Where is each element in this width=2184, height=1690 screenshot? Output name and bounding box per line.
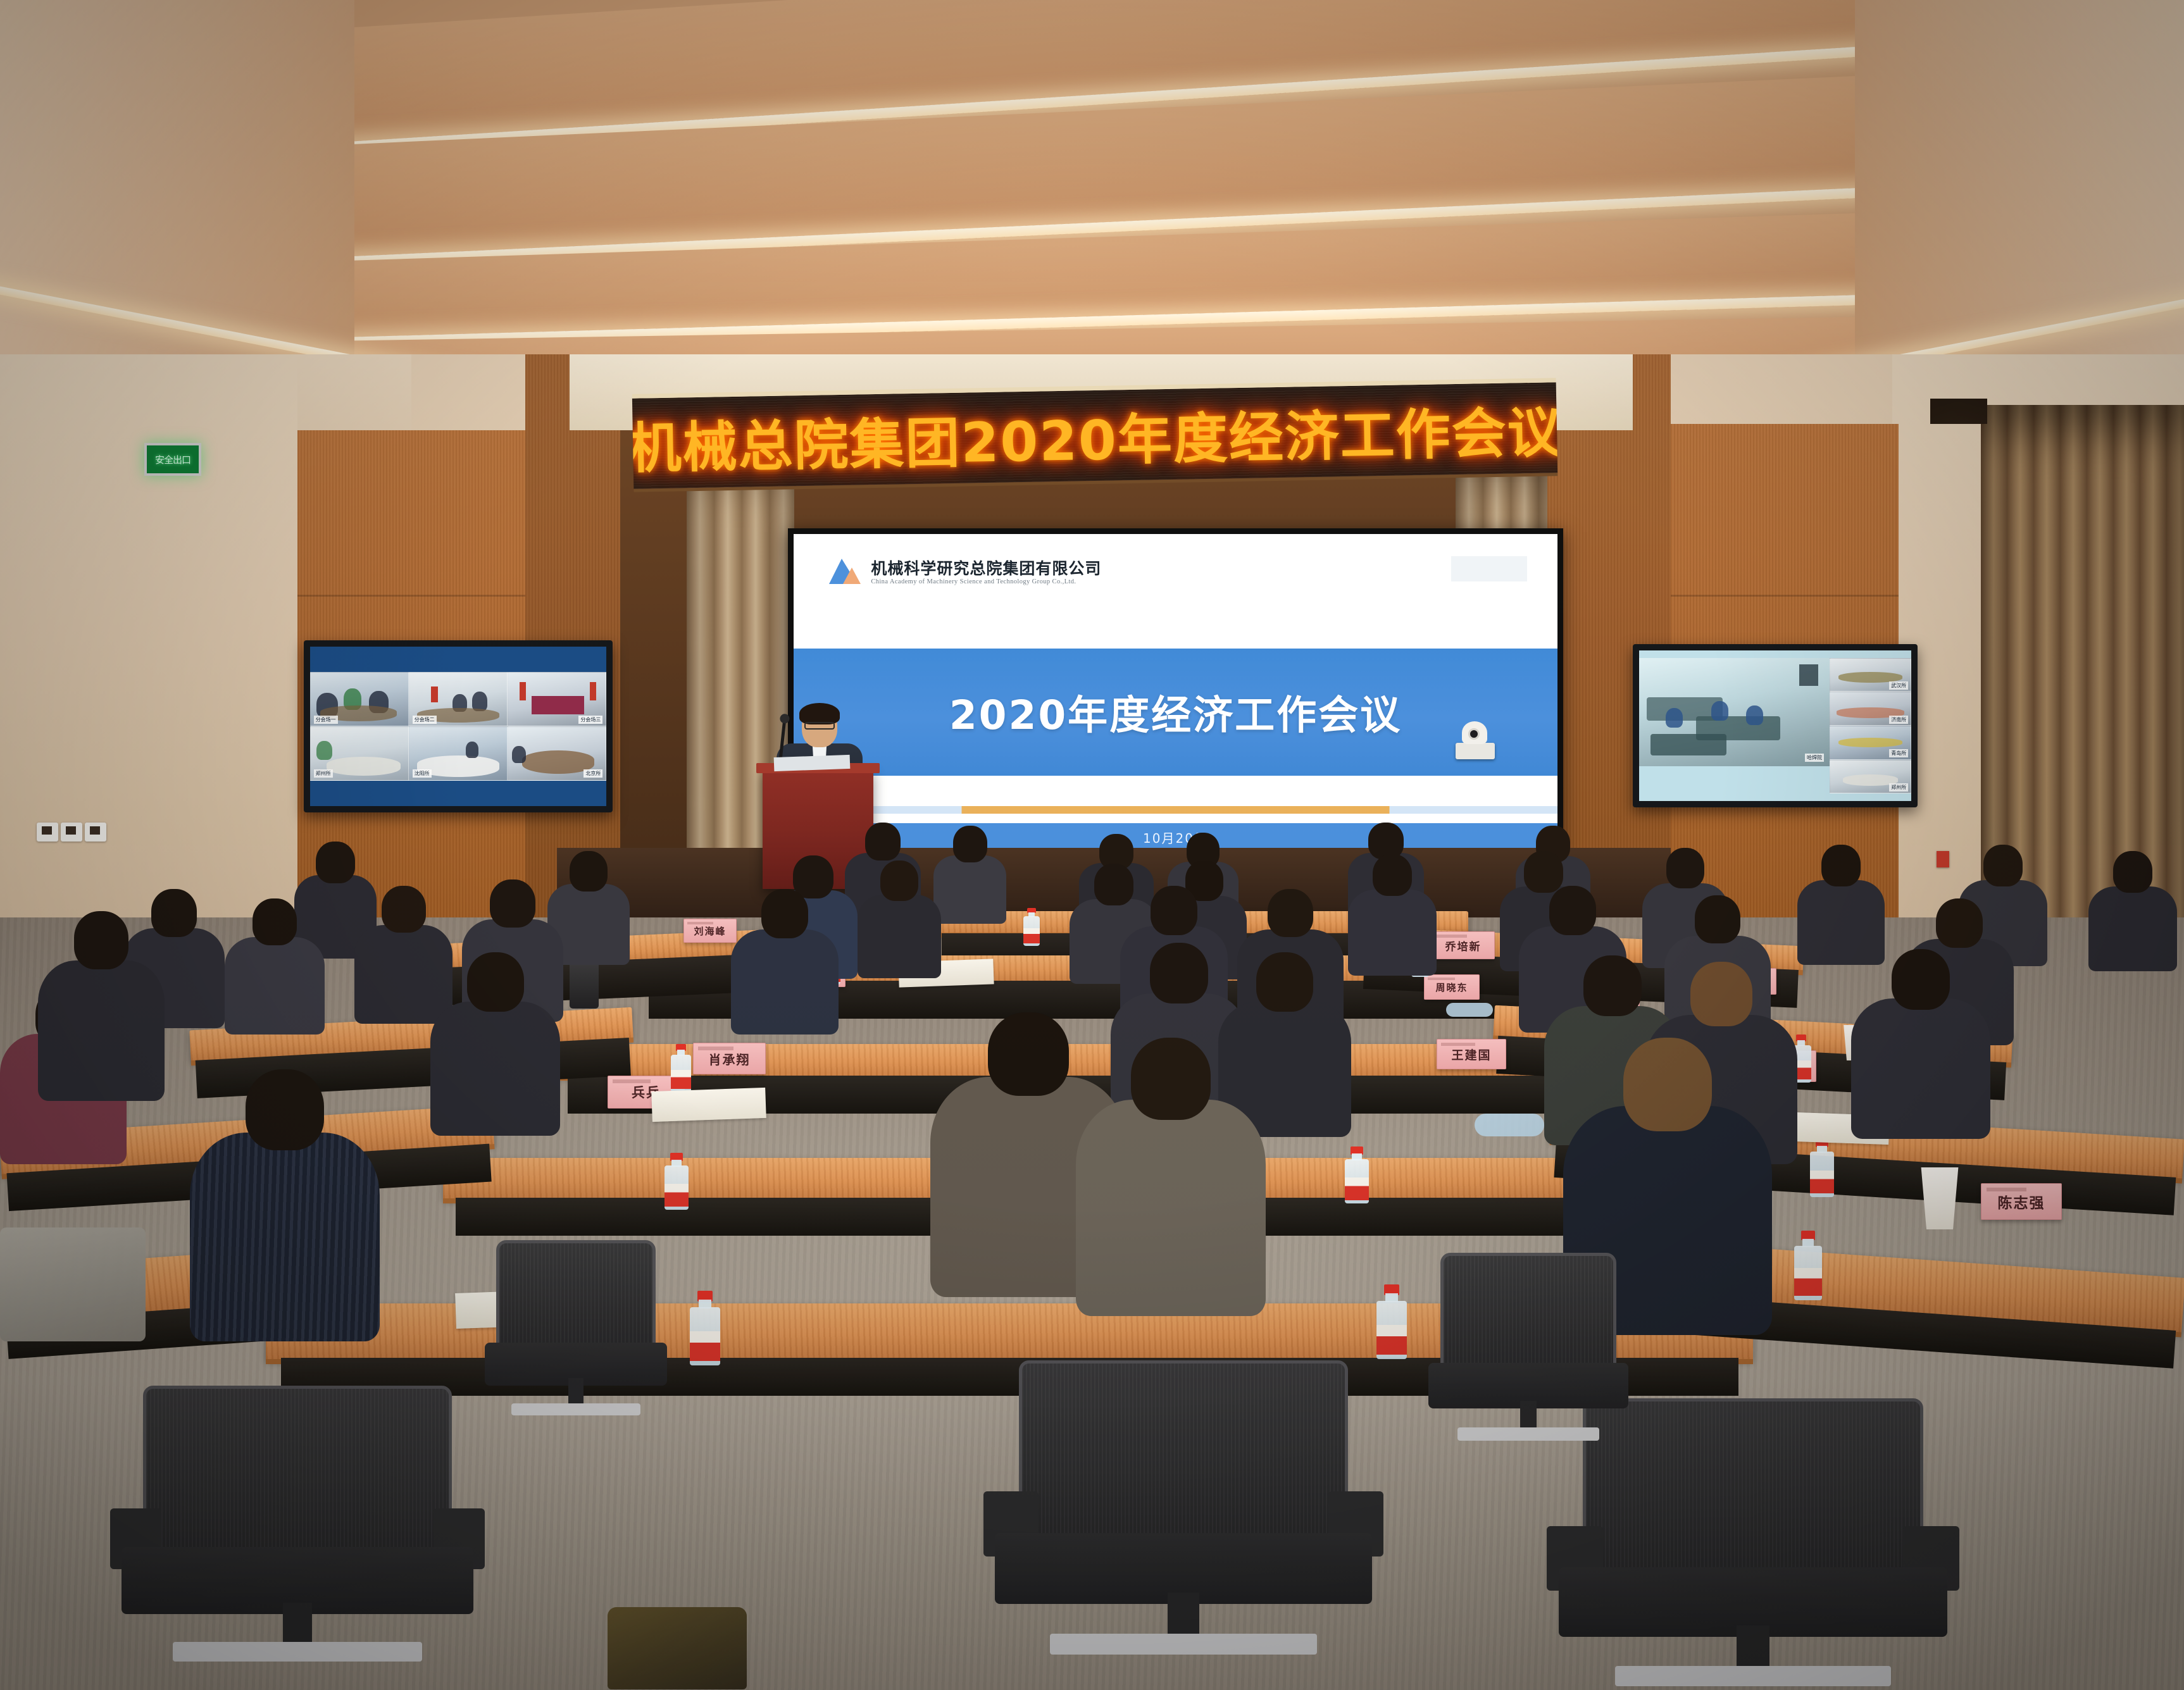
speech-papers bbox=[774, 755, 851, 771]
attendee bbox=[38, 911, 165, 1101]
face-mask bbox=[1475, 1114, 1544, 1136]
video-cell-label: 青岛所 bbox=[1889, 749, 1908, 757]
led-banner: 机械总院集团2020年度经济工作会议 bbox=[632, 378, 1557, 492]
left-video-monitor: 分会场一 分会场二 分会场三 郑州 bbox=[304, 640, 613, 812]
video-cell: 济南所 bbox=[1830, 692, 1911, 726]
name-placard: 肖承翔 bbox=[693, 1043, 766, 1074]
video-side-cells: 武汉所 济南所 青岛所 郑州所 bbox=[1830, 658, 1911, 793]
attendee bbox=[1851, 949, 1990, 1139]
exit-sign-text: 安全出口 bbox=[155, 453, 190, 466]
video-cell: 分会场二 bbox=[409, 672, 508, 726]
projection-screen-frame: 机械科学研究总院集团有限公司 China Academy of Machiner… bbox=[788, 528, 1563, 857]
video-cell: 北京所 bbox=[508, 726, 606, 781]
water-bottle bbox=[1376, 1284, 1407, 1359]
conference-hall-photo: 机械总院集团2020年度经济工作会议 安全出口 机械科学研究总院集团有限公司 C… bbox=[0, 0, 2184, 1690]
video-main-cell: 哈焊院 bbox=[1639, 658, 1830, 766]
company-logo-icon bbox=[828, 556, 864, 585]
projection-screen: 机械科学研究总院集团有限公司 China Academy of Machiner… bbox=[794, 534, 1557, 852]
left-monitor-screen: 分会场一 分会场二 分会场三 郑州 bbox=[310, 647, 606, 806]
name-placard: 乔培新 bbox=[1432, 931, 1495, 959]
attendee bbox=[858, 861, 941, 978]
attendee bbox=[933, 826, 1006, 924]
video-cell: 郑州所 bbox=[1830, 760, 1911, 794]
video-cell-label: 武汉所 bbox=[1889, 681, 1908, 690]
slide-corner-graphic bbox=[1451, 556, 1527, 581]
attendee bbox=[1797, 845, 1885, 965]
video-main-cell-label: 哈焊院 bbox=[1805, 754, 1824, 762]
video-cell: 沈阳所 bbox=[409, 726, 508, 781]
travel-tumbler bbox=[570, 962, 599, 1009]
chair[interactable] bbox=[481, 1240, 671, 1417]
slide-logo-cn: 机械科学研究总院集团有限公司 bbox=[871, 561, 1101, 576]
attendee bbox=[190, 1069, 380, 1341]
water-bottle bbox=[1023, 908, 1040, 946]
name-placard: 周晓东 bbox=[1424, 974, 1480, 1000]
chair[interactable] bbox=[987, 1360, 1380, 1658]
chair[interactable] bbox=[1424, 1253, 1633, 1443]
video-cell-label: 北京所 bbox=[583, 769, 602, 778]
placard-name: 乔培新 bbox=[1445, 938, 1482, 954]
slide-accent-stripe bbox=[794, 806, 1557, 814]
video-cell: 分会场三 bbox=[508, 672, 606, 726]
water-bottle bbox=[1345, 1146, 1369, 1203]
placard-name: 刘海峰 bbox=[694, 924, 726, 938]
video-cell-label: 沈阳所 bbox=[413, 769, 432, 778]
water-bottle bbox=[690, 1291, 720, 1365]
slide-title: 2020年度经济工作会议 bbox=[794, 683, 1557, 741]
attendee bbox=[1076, 1038, 1266, 1316]
fire-alarm-box[interactable] bbox=[1937, 851, 1949, 867]
ptz-camera-icon bbox=[1456, 721, 1495, 759]
slide-logo-en: China Academy of Machinery Science and T… bbox=[871, 578, 1101, 585]
water-bottle bbox=[671, 1044, 691, 1092]
right-video-monitor: 哈焊院 武汉所 济南所 青岛所 郑州所 bbox=[1633, 644, 1918, 807]
video-cell-label: 郑州所 bbox=[1889, 783, 1908, 792]
wall-switch-plate[interactable] bbox=[61, 823, 82, 842]
name-placard: 陈志强 bbox=[1981, 1183, 2062, 1220]
placard-name: 肖承翔 bbox=[709, 1050, 751, 1068]
curtain-rail-right bbox=[1930, 399, 1987, 424]
video-cell: 武汉所 bbox=[1830, 658, 1911, 692]
attendee bbox=[2088, 851, 2177, 971]
placard-name: 周晓东 bbox=[1435, 981, 1468, 994]
exit-sign: 安全出口 bbox=[144, 443, 201, 476]
notepad bbox=[651, 1088, 766, 1122]
water-bottle bbox=[1810, 1139, 1834, 1197]
attendee bbox=[430, 952, 560, 1136]
name-placard: 刘海峰 bbox=[683, 919, 737, 943]
video-cell-label: 分会场三 bbox=[578, 716, 602, 724]
name-placard: 王建国 bbox=[1437, 1039, 1506, 1069]
video-cell: 分会场一 bbox=[310, 672, 409, 726]
water-bottle bbox=[665, 1153, 689, 1210]
wall-switch-plate[interactable] bbox=[85, 823, 106, 842]
face-mask bbox=[1446, 1003, 1493, 1017]
led-banner-text: 机械总院集团2020年度经济工作会议 bbox=[632, 388, 1557, 483]
video-cell: 青岛所 bbox=[1830, 726, 1911, 760]
handbag bbox=[608, 1607, 747, 1689]
video-cell-label: 分会场二 bbox=[413, 716, 437, 724]
jacket-on-chair bbox=[0, 1227, 146, 1341]
slide-logo: 机械科学研究总院集团有限公司 China Academy of Machiner… bbox=[828, 556, 1101, 585]
video-cell-label: 分会场一 bbox=[314, 716, 338, 724]
placard-name: 陈志强 bbox=[1998, 1191, 2045, 1212]
video-cell-label: 济南所 bbox=[1889, 716, 1908, 724]
attendee bbox=[1348, 854, 1437, 976]
chair[interactable] bbox=[114, 1386, 481, 1664]
water-bottle bbox=[1794, 1231, 1822, 1300]
ceiling bbox=[0, 0, 2184, 405]
right-monitor-screen: 哈焊院 武汉所 济南所 青岛所 郑州所 bbox=[1639, 650, 1911, 801]
video-grid: 分会场一 分会场二 分会场三 郑州 bbox=[310, 672, 606, 780]
video-cell: 郑州所 bbox=[310, 726, 409, 781]
attendee bbox=[225, 898, 325, 1035]
placard-name: 王建国 bbox=[1451, 1046, 1491, 1063]
wall-switch-plate[interactable] bbox=[37, 823, 58, 842]
attendee bbox=[731, 889, 839, 1035]
video-cell-label: 郑州所 bbox=[314, 769, 333, 778]
